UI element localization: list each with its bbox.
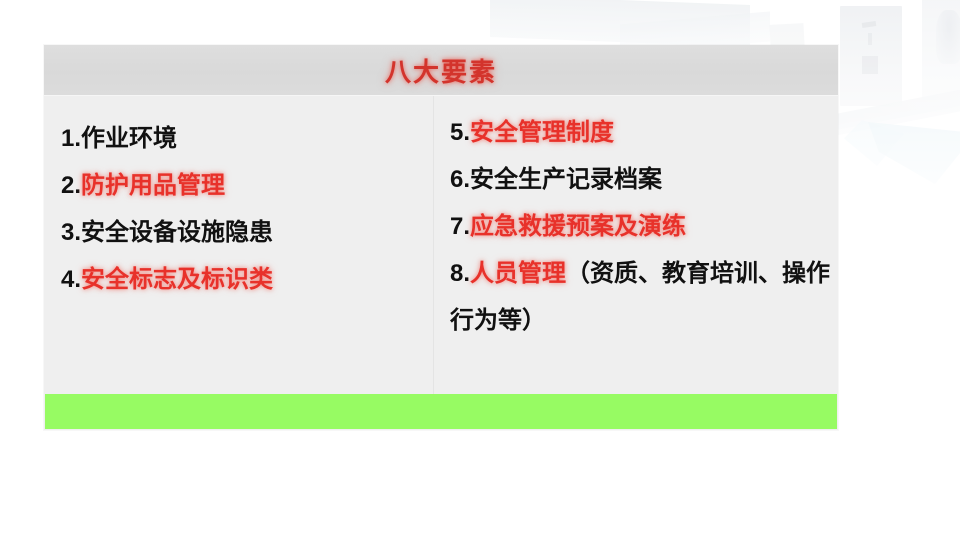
list-item: 8.人员管理（资质、教育培训、操作行为等） xyxy=(450,250,830,344)
item-label: 安全标志及标识类 xyxy=(81,266,273,293)
item-label: 安全生产记录档案 xyxy=(470,166,662,193)
item-number: 2. xyxy=(61,172,81,199)
list-item: 7.应急救援预案及演练 xyxy=(450,203,830,250)
bg-person-silhouette xyxy=(936,10,960,64)
list-item: 5.安全管理制度 xyxy=(450,109,830,156)
list-item: 4.安全标志及标识类 xyxy=(61,256,433,303)
item-number: 8. xyxy=(450,260,470,287)
table-title: 八大要素 xyxy=(385,52,497,89)
item-number: 5. xyxy=(450,119,470,146)
item-label: 人员管理 xyxy=(470,260,566,287)
list-item: 3.安全设备设施隐患 xyxy=(61,209,433,256)
item-number: 1. xyxy=(61,125,81,152)
right-column: 5.安全管理制度 6.安全生产记录档案 7.应急救援预案及演练 8.人员管理（资… xyxy=(434,96,838,394)
item-number: 3. xyxy=(61,219,81,246)
item-label: 安全管理制度 xyxy=(470,119,614,146)
left-column: 1.作业环境 2.防护用品管理 3.安全设备设施隐患 4.安全标志及标识类 xyxy=(44,96,434,394)
item-label: 应急救援预案及演练 xyxy=(470,213,686,240)
bg-banner-shape-b xyxy=(840,6,902,106)
table-body: 1.作业环境 2.防护用品管理 3.安全设备设施隐患 4.安全标志及标识类 5.… xyxy=(44,96,838,394)
item-number: 4. xyxy=(61,266,81,293)
item-number: 6. xyxy=(450,166,470,193)
item-label: 防护用品管理 xyxy=(81,172,225,199)
bg-projector-screen-shape xyxy=(490,0,750,47)
table-header-row: 八大要素 xyxy=(44,45,838,96)
bg-banner-shape-c xyxy=(922,0,960,100)
item-label: 作业环境 xyxy=(81,125,177,152)
table-footer-bar xyxy=(45,394,837,429)
list-item: 1.作业环境 xyxy=(61,115,433,162)
bg-teal-accent-shape xyxy=(868,122,960,184)
eight-elements-table: 八大要素 1.作业环境 2.防护用品管理 3.安全设备设施隐患 4.安全标志及标… xyxy=(44,45,838,430)
bg-banner-shape-a xyxy=(769,23,804,47)
bg-teal-accent-shape-2 xyxy=(844,120,904,166)
list-item: 6.安全生产记录档案 xyxy=(450,156,830,203)
item-label: 安全设备设施隐患 xyxy=(81,219,273,246)
bg-banner-detail-3 xyxy=(862,56,878,74)
bg-banner-detail-2 xyxy=(868,33,872,45)
item-number: 7. xyxy=(450,213,470,240)
bg-banner-detail-1 xyxy=(862,21,877,28)
list-item: 2.防护用品管理 xyxy=(61,162,433,209)
